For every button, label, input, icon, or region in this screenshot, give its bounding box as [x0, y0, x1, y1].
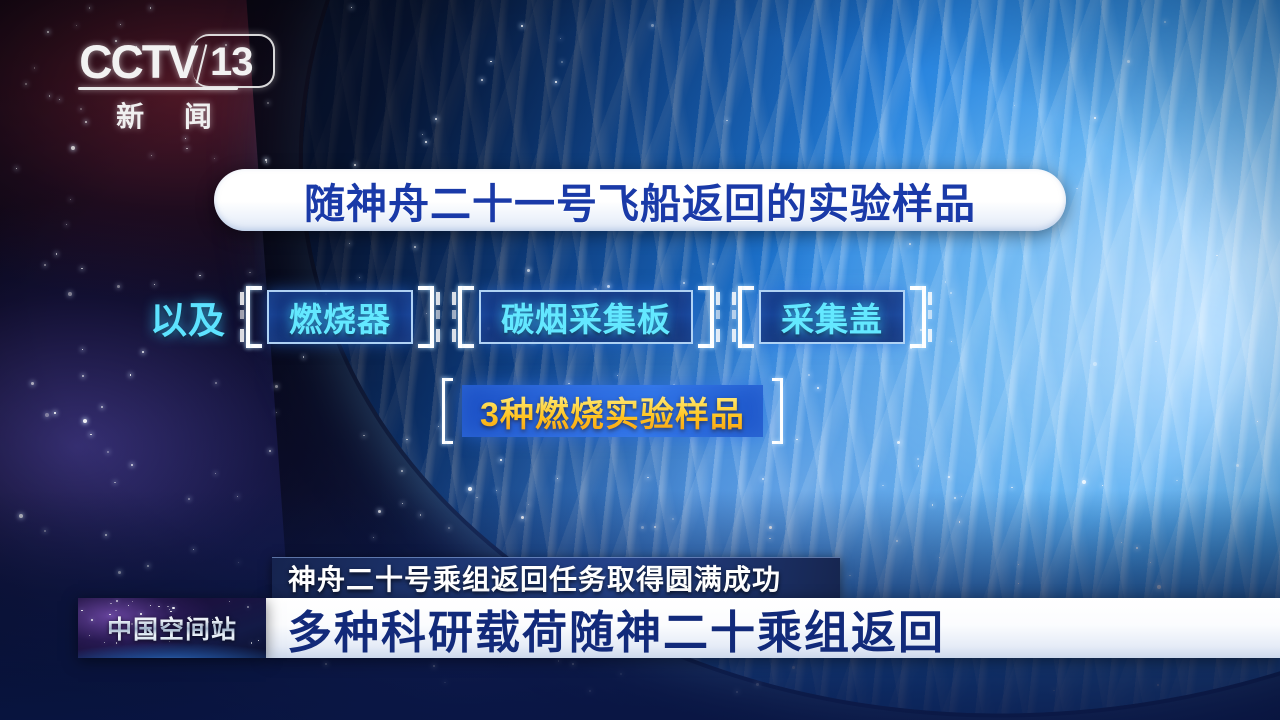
headline-banner: 随神舟二十一号飞船返回的实验样品 — [214, 169, 1066, 231]
channel-sublabel: 新 闻 — [78, 95, 250, 135]
bracket-right-icon — [908, 286, 932, 348]
bracket-right-icon — [416, 286, 440, 348]
items-prefix-label: 以及 — [150, 290, 226, 344]
bracket-left-icon — [452, 286, 476, 348]
items-row: 以及 燃烧器 碳烟采集板 采集盖 — [150, 286, 944, 348]
channel-number: 13 — [210, 42, 253, 82]
chip-group-combustor: 燃烧器 — [240, 286, 440, 348]
lower-third-kicker-text: 神舟二十号乘组返回任务取得圆满成功 — [288, 558, 781, 598]
logo-slash-divider — [196, 44, 208, 83]
bracket-left-icon — [240, 286, 264, 348]
lower-third-title-bar: 多种科研载荷随神二十乘组返回 — [265, 598, 1280, 658]
item-chip-label: 采集盖 — [781, 293, 883, 341]
highlight-bracket-left-icon — [438, 378, 454, 444]
bracket-right-icon — [696, 286, 720, 348]
cctv-wordmark: CCTV — [79, 38, 197, 85]
chip-group-soot-plate: 碳烟采集板 — [452, 286, 720, 348]
lower-third-kicker-bar: 神舟二十号乘组返回任务取得圆满成功 — [272, 557, 840, 598]
chip-group-collection-cover: 采集盖 — [732, 286, 932, 348]
lower-third-title-text: 多种科研载荷随神二十乘组返回 — [287, 596, 945, 661]
item-chip-soot-plate: 碳烟采集板 — [479, 290, 693, 344]
item-chip-collection-cover: 采集盖 — [759, 290, 905, 344]
highlight-label: 3种燃烧实验样品 — [480, 387, 745, 436]
item-chip-combustor: 燃烧器 — [267, 290, 413, 344]
program-badge: 中国空间站 — [78, 598, 266, 658]
channel-logo-row: CCTV 13 — [78, 38, 268, 85]
item-chip-label: 碳烟采集板 — [501, 293, 671, 341]
highlight-bar: 3种燃烧实验样品 — [462, 385, 763, 437]
item-chip-label: 燃烧器 — [289, 293, 391, 341]
program-badge-text: 中国空间站 — [107, 610, 237, 646]
channel-logo: CCTV 13 新 闻 — [78, 38, 268, 135]
headline-text: 随神舟二十一号飞船返回的实验样品 — [304, 170, 976, 230]
bracket-left-icon — [732, 286, 756, 348]
broadcast-frame: CCTV 13 新 闻 随神舟二十一号飞船返回的实验样品 以及 燃烧器 碳烟采集… — [0, 0, 1280, 720]
highlight-group: 3种燃烧实验样品 — [438, 378, 787, 444]
highlight-bracket-right-icon — [771, 378, 787, 444]
